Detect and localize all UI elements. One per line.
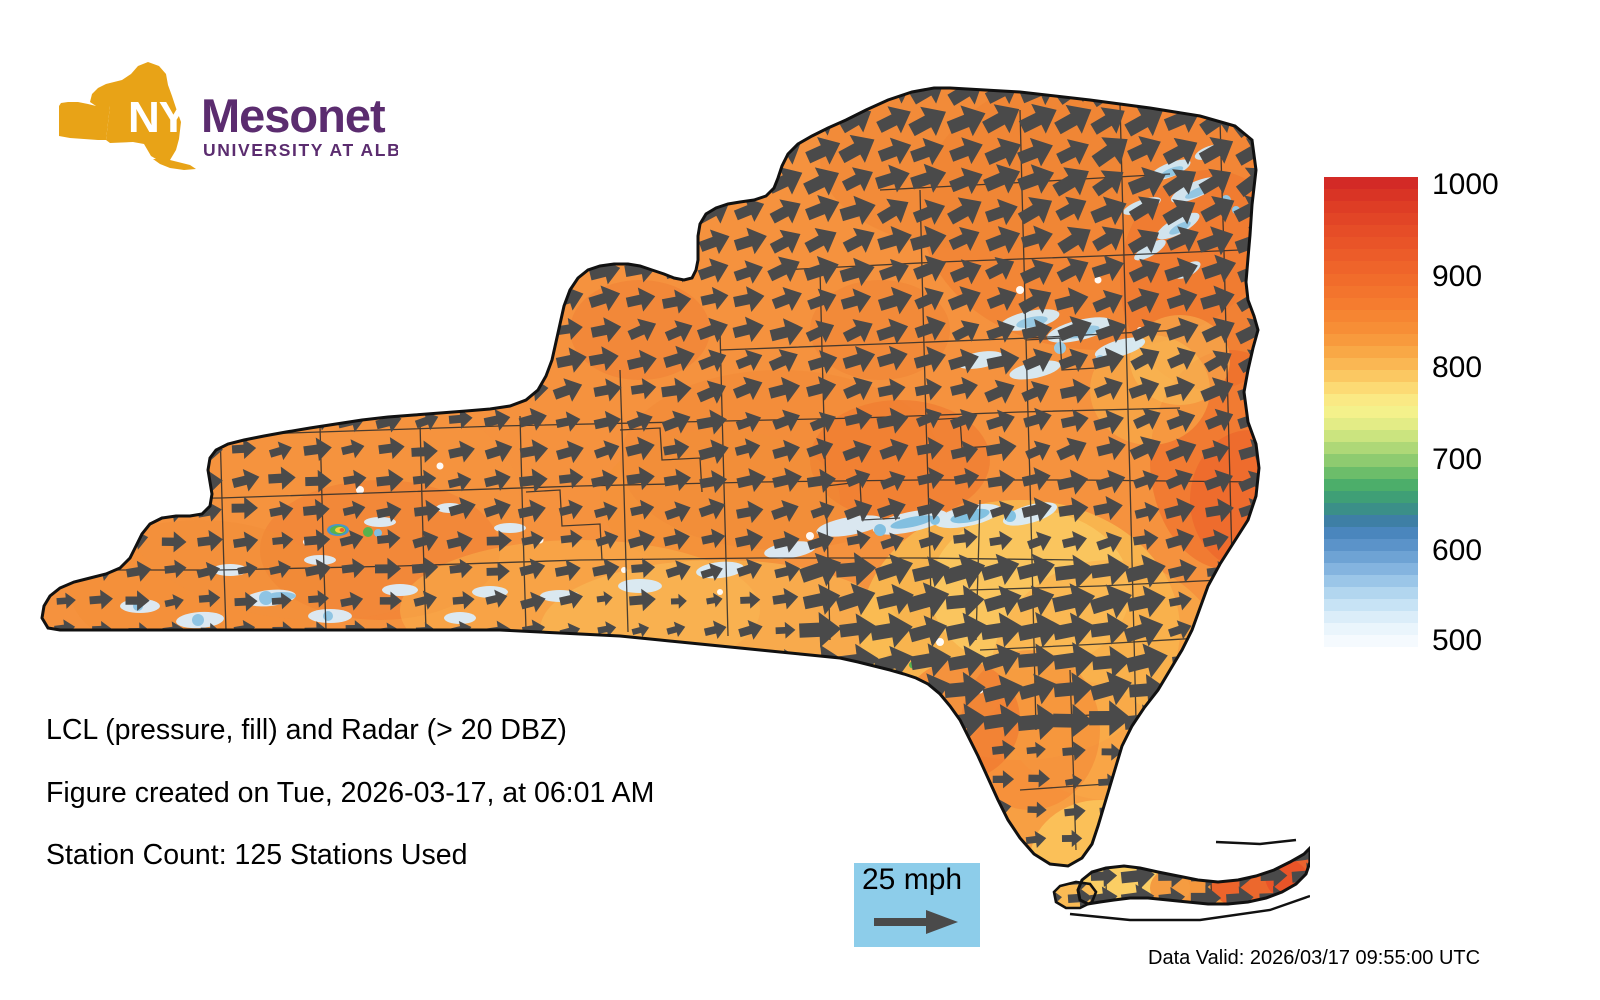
wind-arrow [233,350,260,374]
colorbar-band [1324,442,1418,454]
wind-arrow [85,196,116,224]
wind-arrow [414,680,436,699]
colorbar-band [1324,539,1418,551]
wind-arrow [306,652,330,673]
wind-arrow [154,194,189,226]
wind-arrow [1064,923,1080,930]
wind-arrow [20,650,41,671]
wind-arrow [167,920,183,930]
wind-arrow [524,923,543,930]
wind-arrow [335,104,373,140]
wind-arrow [483,226,516,255]
colorbar-tick-label: 700 [1432,445,1482,475]
wind-arrow [158,316,189,343]
wind-arrow [300,312,336,345]
wind-arrow [622,219,665,260]
wind-arrow [20,227,45,253]
wind-arrow [439,101,484,144]
wind-arrow [620,158,665,201]
wind-arrow [156,408,188,437]
wind-arrow [20,315,43,340]
wind-arrow [47,133,84,167]
wind-arrow [801,702,842,738]
wind-arrow [376,347,403,371]
wind-arrow [195,345,226,372]
wind-arrow [406,71,448,109]
wind-arrow [20,103,48,135]
wind-arrow [1170,831,1192,851]
wind-arrow [411,317,443,346]
colorbar-band [1324,611,1418,623]
wind-arrow [84,73,119,105]
wind-arrow [446,287,478,316]
wind-arrow [158,255,191,284]
wind-arrow [1279,708,1303,729]
wind-arrow [561,679,583,699]
wind-arrow [1171,708,1195,729]
wind-arrow [703,678,726,698]
wind-arrow [54,442,76,461]
wind-arrow [726,67,774,112]
colorbar-band [1324,430,1418,442]
wind-arrow [445,254,476,281]
wind-arrow [304,378,333,404]
wind-arrow [548,68,594,112]
wind-arrow [21,771,40,789]
wind-speed-legend-label: 25 mph [862,865,962,895]
wind-arrow [20,197,45,224]
wind-arrow [20,922,38,930]
colorbar-band [1324,322,1418,334]
wind-arrow [346,923,360,930]
wind-arrow [380,680,401,698]
colorbar-band [1324,515,1418,527]
wind-arrow [480,132,517,165]
wind-arrow [119,103,155,135]
wind-arrow [20,346,45,377]
wind-arrow [955,770,977,789]
wind-arrow [263,254,298,286]
wind-arrow [194,134,229,166]
wind-arrow [268,197,300,226]
wind-arrow [231,315,264,344]
wind-arrow [375,226,408,256]
wind-arrow [521,346,551,373]
wind-arrow [375,285,406,313]
wind-arrow [85,224,119,255]
wind-arrow [622,192,659,227]
wind-arrow [376,315,408,344]
wind-arrow [376,378,403,402]
wind-arrow [813,860,830,877]
wind-arrow [159,165,192,195]
wind-arrow [129,923,147,930]
wind-arrow [656,99,700,140]
wind-arrow [158,225,193,257]
wind-arrow [1237,614,1268,642]
wind-arrow [1270,372,1308,406]
wind-arrow [1266,191,1310,232]
colorbar-band [1324,467,1418,479]
wind-arrow [693,162,733,200]
wind-arrow [479,103,518,138]
wind-arrow [521,648,544,669]
wind-arrow [1155,840,1188,869]
wind-arrow [121,195,153,224]
wind-arrow [372,104,409,138]
wind-arrow [633,679,653,697]
wind-arrow [229,252,265,285]
wind-arrow [1245,772,1266,791]
wind-arrow [379,650,401,669]
wind-arrow [1173,920,1190,930]
wind-arrow [443,192,484,229]
wind-arrow [196,378,223,402]
data-valid-timestamp: Data Valid: 2026/03/17 09:55:00 UTC [1148,948,1480,968]
wind-arrow [370,161,411,199]
wind-arrow [621,132,662,170]
wind-arrow [1266,220,1310,262]
wind-arrow [1032,923,1047,930]
colorbar-band [1324,599,1418,611]
wind-arrow [198,651,221,670]
wind-arrow [85,285,119,316]
wind-arrow [297,192,336,227]
wind-arrow [266,225,298,255]
colorbar-tick-label: 600 [1432,536,1482,566]
wind-arrow [266,134,300,165]
colorbar-band [1324,503,1418,515]
wind-arrow [813,891,830,908]
wind-arrow [1206,742,1229,761]
wind-arrow [479,73,519,110]
wind-arrow [129,651,150,669]
wind-arrow [374,253,408,284]
colorbar-band [1324,237,1418,249]
wind-arrow [628,649,656,674]
wind-arrow [409,255,445,288]
wind-arrow [20,590,39,606]
wind-arrow [548,101,590,140]
wind-arrow [1263,126,1310,175]
wind-arrow [441,131,483,170]
wind-arrow [232,195,264,223]
wind-arrow [55,469,80,491]
wind-arrow [1266,96,1310,143]
wind-arrow [335,195,372,229]
colorbar-band [1324,454,1418,466]
wind-arrow [551,160,591,197]
wind-arrow [1103,923,1119,930]
wind-arrow [20,502,41,521]
wind-arrow [589,223,623,254]
wind-arrow [1153,63,1207,116]
wind-arrow [226,161,262,194]
colorbar-band [1324,286,1418,298]
wind-arrow [814,743,832,758]
wind-arrow [337,283,370,314]
wind-arrow [21,802,42,820]
wind-arrow [340,649,366,672]
wind-arrow [920,772,938,789]
wind-arrow [86,167,116,194]
colorbar-band [1324,213,1418,225]
wind-arrow [238,924,253,930]
wind-arrow [452,651,474,670]
wind-arrow [764,99,806,139]
wind-arrow [335,131,373,166]
wind-arrow [380,920,400,930]
wind-arrow [90,528,116,550]
wind-arrow [226,71,269,112]
wind-arrow [119,221,155,255]
colorbar-band [1324,310,1418,322]
wind-arrow [513,69,558,110]
wind-arrow [1030,893,1050,910]
wind-arrow [633,921,653,930]
wind-arrow [189,101,228,137]
wind-arrow [655,128,697,167]
wind-arrow [55,652,79,672]
wind-arrow [814,831,831,846]
wind-arrow [229,226,261,254]
wind-arrow [164,682,186,701]
wind-arrow [1140,923,1154,930]
wind-arrow [919,832,940,850]
wind-arrow [1270,465,1306,499]
colorbar-band [1324,225,1418,237]
colorbar-band [1324,635,1418,647]
wind-arrow [51,164,84,194]
wind-arrow [20,376,48,405]
wind-arrow [268,315,299,343]
wind-arrow [1135,799,1158,819]
wind-arrow [448,347,480,375]
wind-arrow [776,682,797,700]
wind-arrow [121,347,153,376]
wind-arrow [20,621,42,639]
wind-arrow [742,652,759,668]
colorbar-band [1324,575,1418,587]
wind-arrow [418,650,437,666]
wind-arrow [155,105,189,137]
wind-arrow [191,254,225,284]
wind-arrow [1205,709,1231,731]
wind-arrow [448,318,478,344]
wind-arrow [87,468,113,492]
wind-arrow [741,920,763,930]
wind-arrow [1208,923,1227,930]
wind-arrow [54,381,79,403]
wind-arrow [489,681,510,700]
wind-arrow [299,72,340,110]
wind-arrow [586,69,628,109]
wind-arrow [126,379,153,402]
wind-arrow [1137,830,1156,846]
wind-arrow [814,922,832,930]
colorbar-band [1324,623,1418,635]
wind-arrow [20,742,37,758]
wind-arrow [122,75,157,106]
wind-arrow [1277,740,1300,760]
wind-arrow [835,700,877,736]
wind-arrow [1266,250,1310,292]
wind-arrow [1275,494,1309,525]
wind-arrow [340,347,371,375]
wind-arrow [553,224,590,258]
colorbar-band [1324,479,1418,491]
wind-arrow [230,288,262,316]
wind-arrow [453,921,473,930]
wind-arrow [1278,770,1300,789]
wind-arrow [593,652,615,672]
wind-arrow [1124,842,1152,866]
wind-arrow [91,500,115,521]
colorbar-band [1324,261,1418,273]
wind-arrow [231,135,264,165]
wind-arrow [20,712,39,731]
wind-arrow [124,318,152,343]
wind-arrow [90,648,115,670]
wind-arrow [268,345,299,372]
wind-arrow [296,100,338,138]
wind-arrow [227,104,265,138]
colorbar-band [1324,394,1418,406]
wind-arrow [53,406,82,432]
caption-created: Figure created on Tue, 2026-03-17, at 06… [46,779,806,808]
wind-arrow [371,194,407,227]
colorbar-band [1324,406,1418,418]
wind-arrow [482,254,515,284]
colorbar-band [1324,249,1418,261]
colorbar-band [1324,177,1418,189]
colorbar-tick-label: 500 [1432,626,1482,656]
coastline-north-fork [1216,840,1296,844]
wind-arrow [50,347,82,376]
wind-arrow [91,920,109,930]
wind-arrow [515,282,554,319]
colorbar-band [1324,298,1418,310]
wind-arrow [273,924,291,930]
wind-arrow [159,468,186,492]
wind-arrow [1028,863,1045,880]
wind-arrow [52,497,81,524]
wind-arrow [1283,924,1299,930]
wind-arrow [1272,553,1306,584]
wind-arrow [667,680,689,700]
wind-arrow [20,436,44,461]
wind-arrow [595,680,615,698]
wind-arrow [1239,529,1266,553]
wind-arrow [885,773,905,791]
wind-arrow [516,315,552,347]
wind-arrow [921,804,938,819]
wind-arrow [301,259,331,285]
wind-arrow [300,133,335,165]
wind-arrow [1277,588,1304,612]
wind-arrow [403,102,446,142]
wind-arrow [199,409,223,430]
wind-arrow [159,438,191,467]
caption-station-count: Station Count: 125 Stations Used [46,841,806,870]
wind-arrow [693,101,734,139]
wind-arrow [87,437,115,461]
wind-arrow [165,651,186,669]
wind-arrow [301,286,332,313]
wind-arrow [1207,860,1225,877]
wind-arrow [367,128,410,169]
wind-arrow [992,834,1009,849]
wind-arrow [196,228,225,254]
wind-arrow [259,101,301,140]
wind-arrow [849,830,868,846]
wind-arrow [192,76,225,106]
wind-arrow [556,649,582,672]
wind-arrow [90,682,111,701]
colorbar-band [1324,358,1418,370]
wind-arrow [125,498,151,520]
wind-arrow [1171,768,1196,790]
wind-arrow [87,379,115,403]
wind-arrow [264,286,300,318]
wind-arrow [660,162,698,197]
wind-arrow [84,315,119,347]
colorbar-band [1324,587,1418,599]
wind-arrow [444,161,481,195]
wind-arrow [479,194,515,227]
wind-arrow [588,133,627,170]
wind-arrow [584,162,627,202]
wind-arrow [159,378,186,401]
wind-arrow [480,314,512,343]
wind-arrow [658,70,701,110]
caption-title: LCL (pressure, fill) and Radar (> 20 DBZ… [46,716,806,745]
wind-arrow [1246,923,1262,930]
wind-arrow [664,920,690,930]
wind-arrow [692,68,736,110]
wind-arrow [51,225,83,254]
wind-arrow [1228,66,1281,116]
wind-arrow [55,922,75,930]
wind-arrow [409,163,444,195]
wind-arrow [411,224,445,256]
wind-arrow [1279,620,1304,642]
wind-arrow [265,161,302,196]
wind-arrow [766,71,809,111]
wind-arrow [408,133,446,169]
wind-arrow [993,860,1015,879]
wind-arrow [452,681,474,700]
wind-arrow [45,70,85,107]
wind-arrow [1265,66,1310,114]
wind-arrow [1171,802,1190,818]
wind-arrow [691,132,734,172]
wind-arrow [729,99,774,141]
wind-arrow [410,377,441,405]
wind-arrow [958,832,976,848]
wind-arrow [813,800,835,819]
colorbar-band [1324,527,1418,539]
wind-arrow [515,255,550,286]
wind-arrow [193,196,226,226]
wind-arrow [1243,681,1267,702]
wind-arrow [51,318,79,343]
wind-arrow [1283,832,1299,847]
wind-arrow [847,803,868,821]
wind-arrow [812,770,832,788]
wind-arrow [85,104,119,136]
wind-arrow [1208,681,1230,701]
